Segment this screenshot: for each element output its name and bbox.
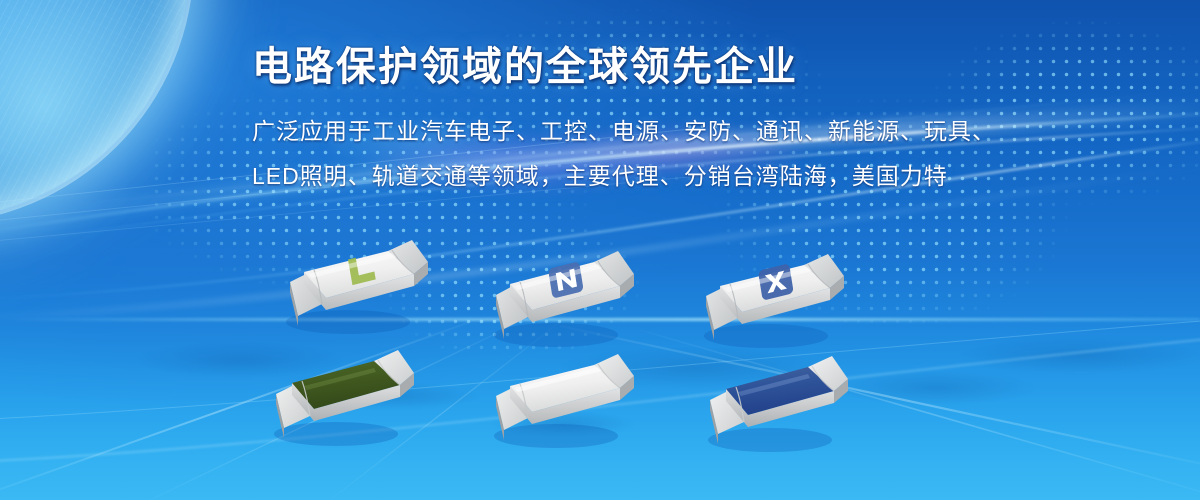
smd-fuse-blue-top [702,348,852,498]
hero-banner: 电路保护领域的全球领先企业 广泛应用于工业汽车电子、工控、电源、安防、通讯、新能… [0,0,1200,500]
smd-fuse-plain-white [488,348,638,498]
smd-fuse-green-top [268,342,418,492]
product-gallery [0,0,1200,500]
